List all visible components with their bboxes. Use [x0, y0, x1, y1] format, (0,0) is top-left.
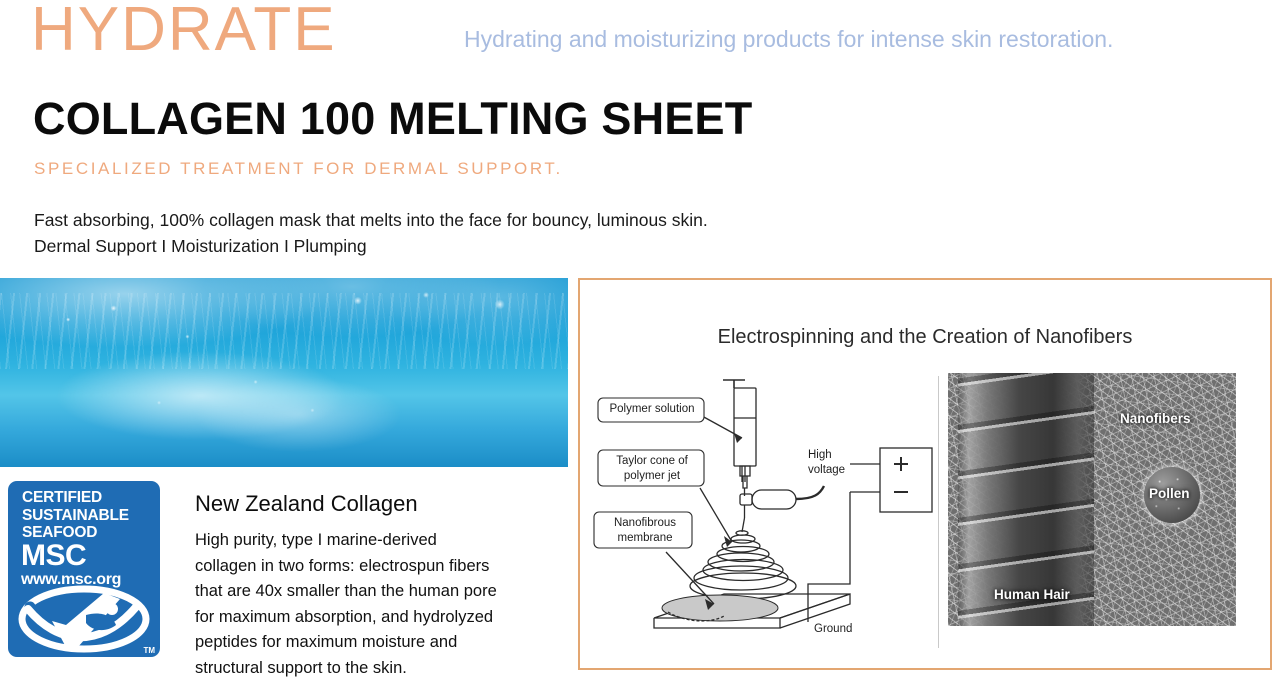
collagen-body-line-2: collagen in two forms: electrospun fiber… [195, 554, 567, 580]
brand-tagline: Hydrating and moisturizing products for … [464, 24, 1113, 54]
msc-line-sustainable: SUSTAINABLE [22, 507, 152, 525]
msc-acronym: MSC [21, 541, 86, 571]
label-taylor-cone: Taylor cone of polymer jet [606, 454, 698, 484]
label-high-voltage-line-2: voltage [808, 463, 845, 478]
product-description-line-1: Fast absorbing, 100% collagen mask that … [34, 207, 708, 233]
label-nanofibrous-membrane: Nanofibrous membrane [602, 516, 688, 546]
label-taylor-cone-line-2: polymer jet [606, 469, 698, 484]
sem-label-pollen: Pollen [1149, 486, 1190, 502]
msc-trademark-symbol: TM [143, 646, 155, 655]
sem-label-human-hair: Human Hair [994, 587, 1070, 603]
label-high-voltage: High voltage [808, 448, 845, 478]
panel-divider [938, 376, 939, 648]
collagen-body-line-5: peptides for maximum moisture and [195, 630, 567, 656]
collagen-body-text: High purity, type I marine-derived colla… [195, 528, 567, 681]
label-taylor-cone-line-1: Taylor cone of [606, 454, 698, 469]
label-ground: Ground [814, 622, 852, 637]
electrospinning-diagram-panel: Electrospinning and the Creation of Nano… [578, 278, 1272, 670]
underwater-ocean-photo [0, 278, 568, 467]
label-nanofibrous-line-1: Nanofibrous [602, 516, 688, 531]
collagen-heading: New Zealand Collagen [195, 490, 418, 518]
product-description-line-2: Dermal Support I Moisturization I Plumpi… [34, 233, 708, 259]
product-subtitle: SPECIALIZED TREATMENT FOR DERMAL SUPPORT… [34, 158, 563, 180]
msc-fish-checkmark-icon [8, 585, 160, 657]
collagen-body-line-3: that are 40x smaller than the human pore [195, 579, 567, 605]
collagen-body-line-1: High purity, type I marine-derived [195, 528, 567, 554]
msc-certification-logo: CERTIFIED SUSTAINABLE SEAFOOD MSC www.ms… [8, 481, 160, 657]
msc-logo-text-block: CERTIFIED SUSTAINABLE SEAFOOD [22, 489, 152, 542]
ocean-bubble-speckles [0, 278, 568, 467]
collagen-body-line-4: for maximum absorption, and hydrolyzed [195, 605, 567, 631]
collagen-body-line-6: structural support to the skin. [195, 656, 567, 682]
product-description: Fast absorbing, 100% collagen mask that … [34, 207, 708, 259]
msc-line-certified: CERTIFIED [22, 489, 152, 507]
diagram-title: Electrospinning and the Creation of Nano… [580, 324, 1270, 350]
sem-micrograph: Nanofibers Pollen Human Hair [948, 373, 1236, 626]
sem-label-nanofibers: Nanofibers [1120, 411, 1191, 427]
electrospinning-schematic: Polymer solution Taylor cone of polymer … [592, 376, 942, 658]
page-title: COLLAGEN 100 MELTING SHEET [33, 92, 752, 146]
label-polymer-solution: Polymer solution [606, 402, 698, 417]
label-high-voltage-line-1: High [808, 448, 845, 463]
brand-word: HYDRATE [31, 0, 337, 64]
label-nanofibrous-line-2: membrane [602, 531, 688, 546]
